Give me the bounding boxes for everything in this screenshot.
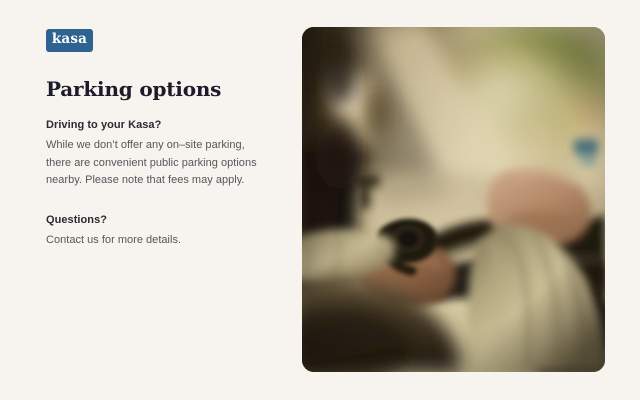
- content-column: kasa Parking options Driving to your Kas…: [46, 0, 286, 400]
- parking-options-slide: kasa Parking options Driving to your Kas…: [0, 0, 640, 400]
- section-driving: Driving to your Kasa? While we don’t off…: [46, 118, 268, 190]
- section-questions-heading: Questions?: [46, 213, 268, 228]
- kasa-logo-text: kasa: [52, 33, 87, 48]
- section-questions: Questions? Contact us for more details.: [46, 213, 268, 250]
- section-driving-body: While we don’t offer any on–site parking…: [46, 137, 268, 190]
- kasa-logo: kasa: [46, 29, 93, 52]
- page-title: Parking options: [46, 78, 221, 101]
- section-driving-heading: Driving to your Kasa?: [46, 118, 268, 133]
- photo-illustration: [302, 27, 605, 372]
- section-questions-body: Contact us for more details.: [46, 232, 268, 250]
- driver-hands-on-steering-wheel-photo: [302, 27, 605, 372]
